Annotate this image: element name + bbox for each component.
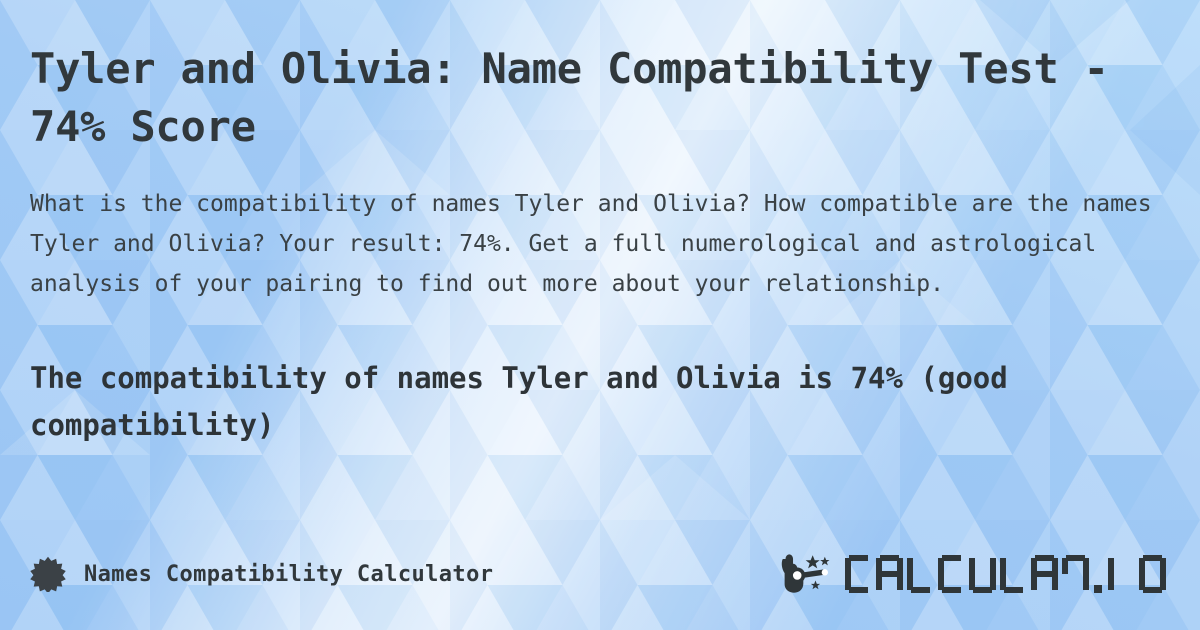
logo-char-l2: [1000, 555, 1027, 593]
logo-char-c: [845, 555, 872, 593]
logo-char-c2: [938, 555, 965, 593]
logo-char-a: [876, 555, 903, 593]
brand-block: Names Compatibility Calculator: [30, 556, 493, 592]
logo-char-i: [1108, 555, 1135, 593]
magic-wand-hand-icon: [779, 553, 837, 595]
logo-char-u: [969, 555, 996, 593]
logo-char-l: [907, 555, 934, 593]
card-footer: Names Compatibility Calculator: [30, 546, 1170, 602]
page-title: Tyler and Olivia: Name Compatibility Tes…: [30, 40, 1140, 156]
social-share-card: Tyler and Olivia: Name Compatibility Tes…: [0, 0, 1200, 630]
logo-char-dot: [1093, 555, 1104, 593]
brand-label: Names Compatibility Calculator: [84, 562, 493, 587]
logo-char-a2: [1031, 555, 1058, 593]
card-content: Tyler and Olivia: Name Compatibility Tes…: [0, 0, 1200, 630]
logo-char-t: [1062, 555, 1089, 593]
intro-paragraph: What is the compatibility of names Tyler…: [30, 184, 1170, 304]
logo-wordmark: [845, 555, 1170, 593]
starburst-icon: [30, 556, 66, 592]
result-statement: The compatibility of names Tyler and Oli…: [30, 355, 1170, 449]
site-logo[interactable]: [779, 553, 1170, 595]
logo-char-o: [1139, 555, 1166, 593]
